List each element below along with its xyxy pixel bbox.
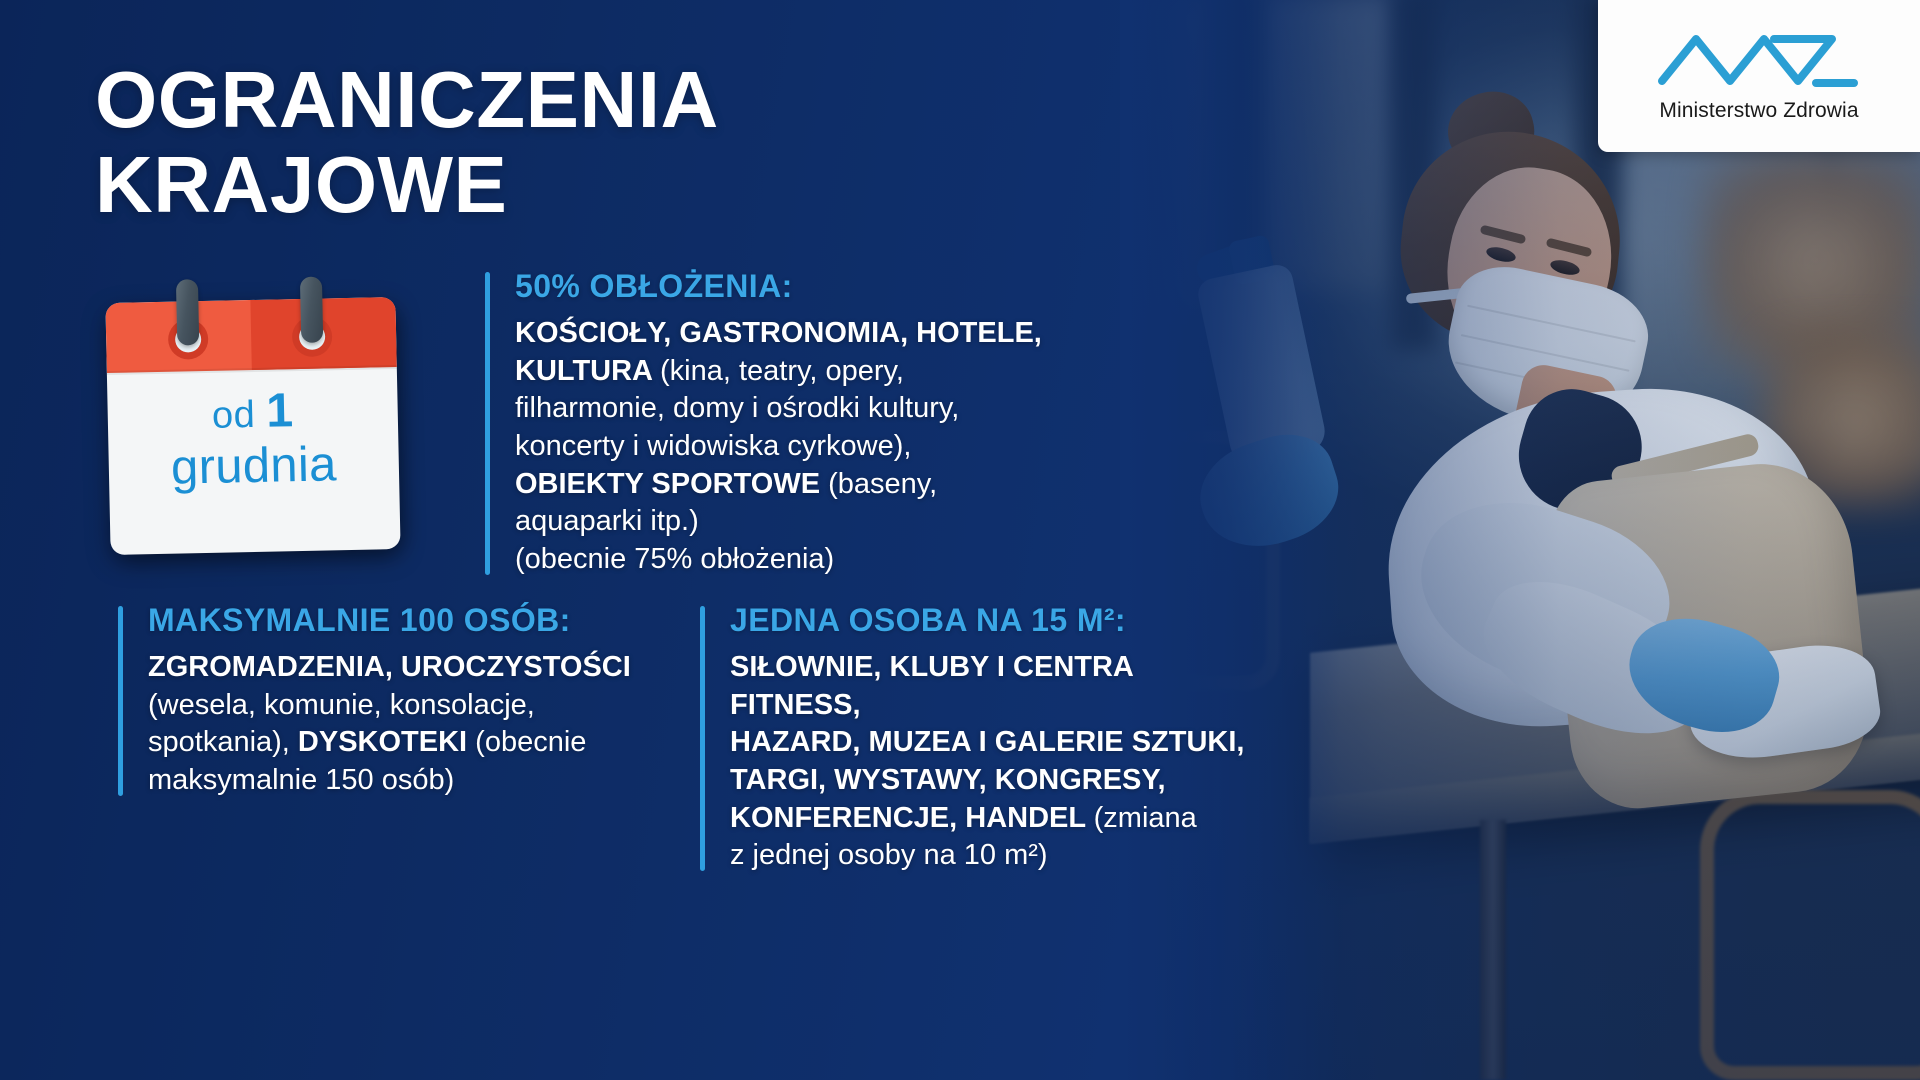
- block-body-line: KOŚCIOŁY, GASTRONOMIA, HOTELE,: [515, 315, 1085, 353]
- normal-text: filharmonie, domy i ośrodki kultury,: [515, 392, 959, 424]
- block-body-line: SIŁOWNIE, KLUBY I CENTRA FITNESS,: [730, 649, 1260, 724]
- block-body-line: KONFERENCJE, HANDEL (zmiana: [730, 800, 1260, 838]
- block-body: ZGROMADZENIA, UROCZYSTOŚCI(wesela, komun…: [148, 649, 693, 800]
- normal-text: koncerty i widowiska cyrkowe),: [515, 430, 911, 462]
- emphasis-text: KOŚCIOŁY, GASTRONOMIA, HOTELE,: [515, 317, 1042, 349]
- ministry-logo-card: Ministerstwo Zdrowia: [1598, 0, 1920, 152]
- calendar-ring-peg: [176, 279, 199, 345]
- calendar-body: od 1 grudnia: [105, 297, 400, 555]
- restriction-block-area: JEDNA OSOBA NA 15 M²: SIŁOWNIE, KLUBY I …: [700, 602, 1260, 875]
- restriction-block-occupancy: 50% OBŁOŻENIA: KOŚCIOŁY, GASTRONOMIA, HO…: [485, 268, 1085, 579]
- block-heading: JEDNA OSOBA NA 15 M²:: [730, 602, 1260, 639]
- block-body-line: KULTURA (kina, teatry, opery,: [515, 353, 1085, 391]
- calendar-date-line1: od 1: [107, 383, 398, 441]
- calendar-ring-peg: [300, 277, 323, 343]
- calendar-date-line2: grudnia: [108, 437, 399, 496]
- block-body-line: TARGI, WYSTAWY, KONGRESY,: [730, 762, 1260, 800]
- block-body-line: (wesela, komunie, konsolacje,: [148, 687, 693, 725]
- normal-text: (zmiana: [1094, 802, 1197, 834]
- infographic-canvas: Ministerstwo Zdrowia OGRANICZENIA KRAJOW…: [0, 0, 1920, 1080]
- ministry-logo-caption: Ministerstwo Zdrowia: [1659, 99, 1858, 123]
- block-body-line: aquaparki itp.): [515, 503, 1085, 541]
- normal-text: (obecnie: [475, 726, 586, 758]
- page-title: OGRANICZENIA KRAJOWE: [95, 58, 719, 228]
- normal-text: aquaparki itp.): [515, 505, 699, 537]
- normal-text: (obecnie 75% obłożenia): [515, 543, 834, 575]
- page-title-line2: KRAJOWE: [95, 143, 719, 228]
- emphasis-text: ZGROMADZENIA, UROCZYSTOŚCI: [148, 651, 631, 683]
- page-title-line1: OGRANICZENIA: [95, 58, 719, 143]
- normal-text: maksymalnie 150 osób): [148, 764, 454, 796]
- emphasis-text: DYSKOTEKI: [298, 726, 475, 758]
- block-body-line: spotkania), DYSKOTEKI (obecnie: [148, 724, 693, 762]
- block-body-line: ZGROMADZENIA, UROCZYSTOŚCI: [148, 649, 693, 687]
- block-body-line: OBIEKTY SPORTOWE (baseny,: [515, 466, 1085, 504]
- block-heading: MAKSYMALNIE 100 OSÓB:: [148, 602, 693, 639]
- block-heading: 50% OBŁOŻENIA:: [515, 268, 1085, 305]
- calendar-date-prefix: od: [212, 394, 267, 437]
- block-body-line: HAZARD, MUZEA I GALERIE SZTUKI,: [730, 724, 1260, 762]
- restriction-block-gatherings: MAKSYMALNIE 100 OSÓB: ZGROMADZENIA, UROC…: [118, 602, 693, 800]
- calendar-date-number: 1: [266, 384, 294, 438]
- emphasis-text: OBIEKTY SPORTOWE: [515, 468, 828, 500]
- block-body: KOŚCIOŁY, GASTRONOMIA, HOTELE,KULTURA (k…: [515, 315, 1085, 579]
- emphasis-text: KULTURA: [515, 355, 660, 387]
- mz-zigzag-logo-icon: [1656, 29, 1862, 93]
- emphasis-text: HAZARD, MUZEA I GALERIE SZTUKI,: [730, 726, 1244, 758]
- normal-text: (kina, teatry, opery,: [660, 355, 904, 387]
- normal-text: z jednej osoby na 10 m²): [730, 839, 1048, 871]
- block-body-line: (obecnie 75% obłożenia): [515, 541, 1085, 579]
- block-body-line: koncerty i widowiska cyrkowe),: [515, 428, 1085, 466]
- emphasis-text: KONFERENCJE, HANDEL: [730, 802, 1094, 834]
- panel-photo-blend: [1120, 0, 1340, 1080]
- emphasis-text: SIŁOWNIE, KLUBY I CENTRA FITNESS,: [730, 651, 1133, 721]
- normal-text: spotkania),: [148, 726, 298, 758]
- block-body: SIŁOWNIE, KLUBY I CENTRA FITNESS,HAZARD,…: [730, 649, 1260, 875]
- emphasis-text: TARGI, WYSTAWY, KONGRESY,: [730, 764, 1166, 796]
- normal-text: (baseny,: [828, 468, 937, 500]
- calendar-date-text: od 1 grudnia: [107, 383, 399, 496]
- block-body-line: z jednej osoby na 10 m²): [730, 837, 1260, 875]
- calendar-icon: od 1 grudnia: [105, 297, 400, 555]
- block-body-line: filharmonie, domy i ośrodki kultury,: [515, 390, 1085, 428]
- block-body-line: maksymalnie 150 osób): [148, 762, 693, 800]
- normal-text: (wesela, komunie, konsolacje,: [148, 689, 535, 721]
